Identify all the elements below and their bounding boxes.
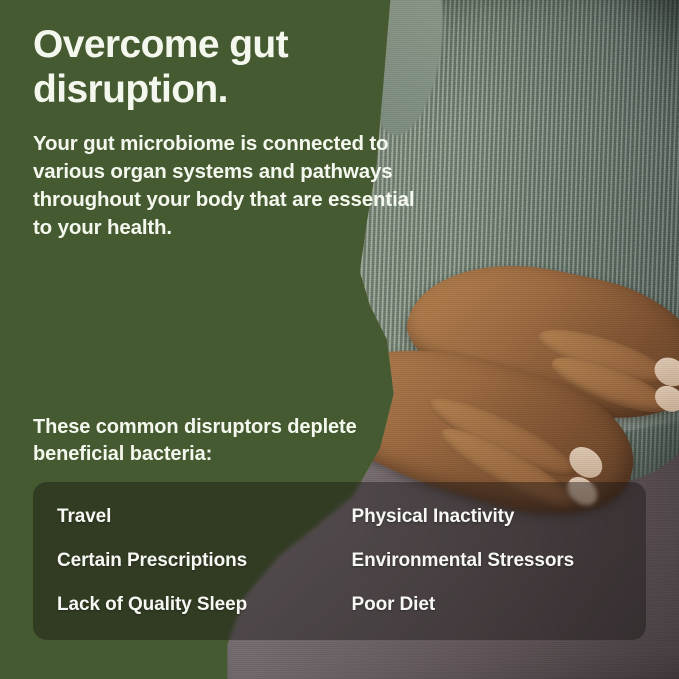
gut-health-promo-card: Overcome gut disruption. Your gut microb… (0, 0, 679, 679)
disruptors-card: Travel Physical Inactivity Certain Presc… (33, 482, 646, 640)
list-item: Physical Inactivity (352, 506, 647, 528)
list-item: Travel (57, 506, 352, 528)
list-item: Poor Diet (352, 594, 647, 616)
disruptors-lead-in: These common disruptors deplete benefici… (33, 414, 403, 468)
intro-paragraph: Your gut microbiome is connected to vari… (33, 130, 433, 242)
disruptors-grid: Travel Physical Inactivity Certain Presc… (33, 482, 646, 640)
list-item: Certain Prescriptions (57, 550, 352, 572)
list-item: Lack of Quality Sleep (57, 594, 352, 616)
page-title: Overcome gut disruption. (33, 22, 383, 112)
fingernail (563, 441, 608, 484)
list-item: Environmental Stressors (352, 550, 647, 572)
